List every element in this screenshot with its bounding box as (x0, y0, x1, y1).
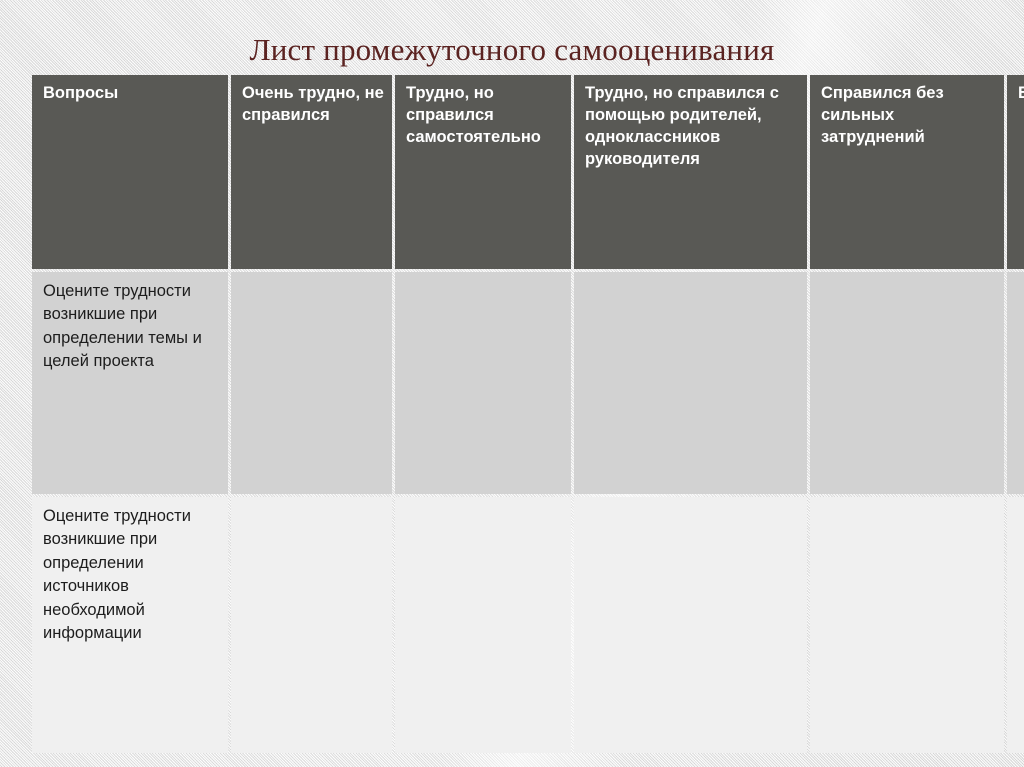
row-answer-cell-was-easy[interactable] (1007, 497, 1024, 753)
page-title: Лист промежуточного самооценивания (250, 33, 775, 67)
row-question-cell: Оцените трудности возникшие при определе… (32, 272, 228, 494)
self-assessment-table-container: Вопросы Очень трудно, не справился Трудн… (29, 72, 995, 756)
row-answer-cell-very-difficult-failed[interactable] (231, 272, 392, 494)
row-answer-cell-managed-without-difficulty[interactable] (810, 497, 1004, 753)
row-answer-cell-very-difficult-failed[interactable] (231, 497, 392, 753)
row-answer-cell-difficult-managed-with-help[interactable] (574, 497, 807, 753)
self-assessment-table: Вопросы Очень трудно, не справился Трудн… (29, 72, 1024, 756)
row-answer-cell-difficult-managed-with-help[interactable] (574, 272, 807, 494)
row-answer-cell-difficult-managed-alone[interactable] (395, 497, 571, 753)
column-header-was-easy: Было легко (1007, 75, 1024, 269)
row-answer-cell-was-easy[interactable] (1007, 272, 1024, 494)
column-header-questions: Вопросы (32, 75, 228, 269)
table-row: Оцените трудности возникшие при определе… (32, 497, 1024, 753)
row-answer-cell-difficult-managed-alone[interactable] (395, 272, 571, 494)
table-header-row: Вопросы Очень трудно, не справился Трудн… (32, 75, 1024, 269)
column-header-difficult-managed-alone: Трудно, но справился самостоятельно (395, 75, 571, 269)
row-question-cell: Оцените трудности возникшие при определе… (32, 497, 228, 753)
table-row: Оцените трудности возникшие при определе… (32, 272, 1024, 494)
column-header-managed-without-difficulty: Справился без сильных затруднений (810, 75, 1004, 269)
column-header-difficult-managed-with-help: Трудно, но справился с помощью родителей… (574, 75, 807, 269)
column-header-very-difficult-failed: Очень трудно, не справился (231, 75, 392, 269)
table-header: Вопросы Очень трудно, не справился Трудн… (32, 75, 1024, 269)
row-answer-cell-managed-without-difficulty[interactable] (810, 272, 1004, 494)
table-body: Оцените трудности возникшие при определе… (32, 272, 1024, 753)
